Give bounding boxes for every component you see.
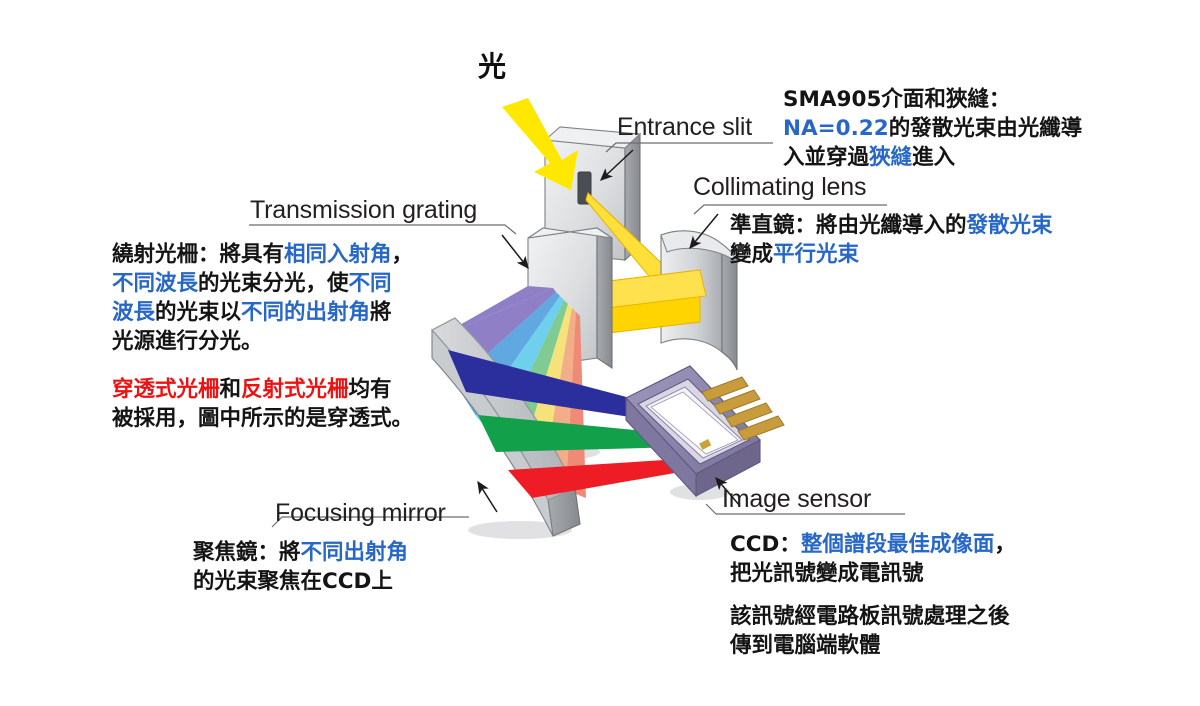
focusing-mirror-label: Focusing mirror [275,499,446,528]
entrance-slit-label: Entrance slit [617,113,752,142]
light-source-label: 光 [478,45,506,85]
focusing-mirror-description: 聚焦鏡：將不同出射角的光束聚焦在CCD上 [193,538,408,596]
spectrometer-diagram-page: 光 Entrance slit Collimating lens Transmi… [0,0,1200,706]
image-sensor-description: CCD：整個譜段最佳成像面，把光訊號變成電訊號 [730,530,1016,588]
collimating-lens-label: Collimating lens [693,173,866,202]
image-sensor-description-2: 該訊號經電路板訊號處理之後傳到電腦端軟體 [730,602,1010,660]
transmission-grating-label: Transmission grating [250,196,477,225]
collimating-lens-description: 準直鏡：將由光纖導入的發散光束變成平行光束 [730,211,1053,269]
entrance-slit-description: SMA905介面和狹縫：NA=0.22的發散光束由光纖導入並穿過狹縫進入 [783,85,1082,172]
image-sensor-label: Image sensor [722,485,871,514]
transmission-grating-description-2: 穿透式光柵和反射式光柵均有被採用，圖中所示的是穿透式。 [112,375,413,433]
transmission-grating-description: 繞射光柵：將具有相同入射角，不同波長的光束分光，使不同波長的光束以不同的出射角將… [112,240,413,356]
